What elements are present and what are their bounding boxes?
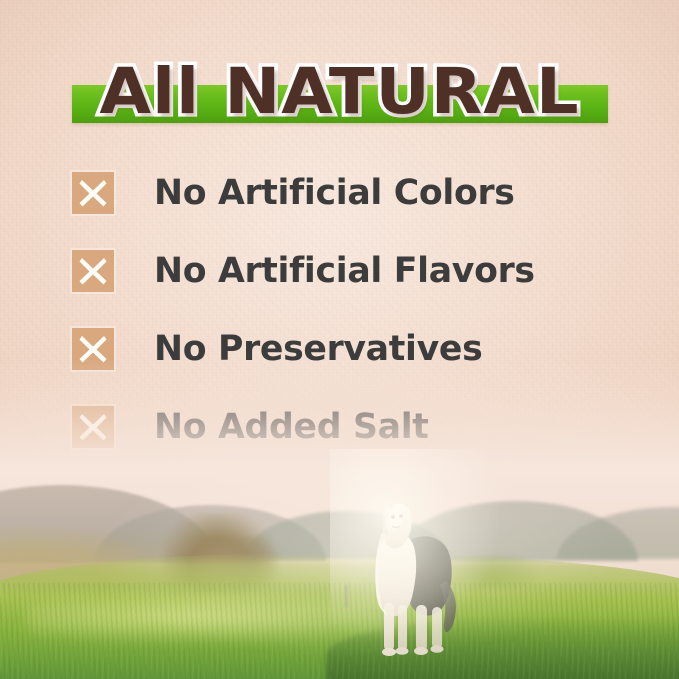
claim-label: No Artificial Flavors bbox=[154, 250, 535, 292]
claim-label: No Artificial Colors bbox=[154, 172, 515, 214]
headline-block: All NATURAL bbox=[0, 46, 679, 138]
list-item: No Artificial Flavors bbox=[72, 250, 632, 292]
all-natural-product-poster: All NATURAL No Artificial Colors No Arti… bbox=[0, 0, 679, 679]
fence-post bbox=[345, 585, 348, 607]
landscape-photo bbox=[0, 359, 679, 679]
dog-photo-subject bbox=[354, 485, 474, 665]
x-mark-icon bbox=[72, 172, 114, 214]
grass-texture bbox=[0, 583, 679, 679]
page-title: All NATURAL bbox=[0, 46, 679, 138]
list-item: No Artificial Colors bbox=[72, 172, 632, 214]
x-mark-icon bbox=[72, 250, 114, 292]
